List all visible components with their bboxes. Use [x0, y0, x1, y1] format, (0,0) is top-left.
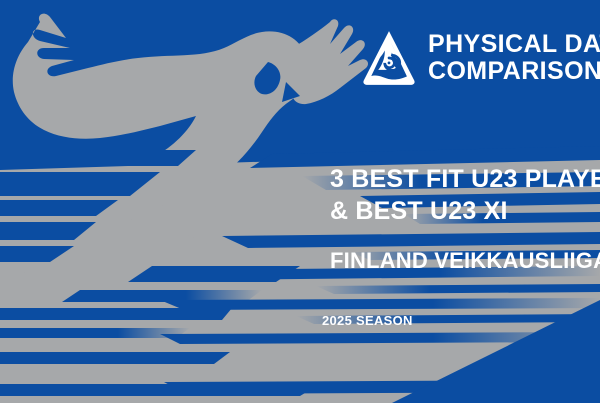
- brand-wordmark-line-1: PHYSICAL DATA: [428, 31, 600, 58]
- brand-lockup: PHYSICAL DATA COMPARISON: [362, 30, 600, 86]
- headline-line-2: & BEST U23 XI: [330, 195, 600, 227]
- headline-block: 3 BEST FIT U23 PLAYERS & BEST U23 XI: [330, 163, 600, 227]
- promo-graphic-canvas: PHYSICAL DATA COMPARISON 3 BEST FIT U23 …: [0, 0, 600, 403]
- headline-line-1: 3 BEST FIT U23 PLAYERS: [330, 163, 600, 195]
- league-title: FINLAND VEIKKAUSLIIGA: [330, 248, 600, 274]
- triangle-spiral-mountain-icon: [362, 30, 416, 86]
- season-label: 2025 SEASON: [322, 313, 413, 328]
- brand-wordmark: PHYSICAL DATA COMPARISON: [428, 31, 600, 85]
- brand-wordmark-line-2: COMPARISON: [428, 58, 600, 85]
- headline: 3 BEST FIT U23 PLAYERS & BEST U23 XI: [330, 163, 600, 227]
